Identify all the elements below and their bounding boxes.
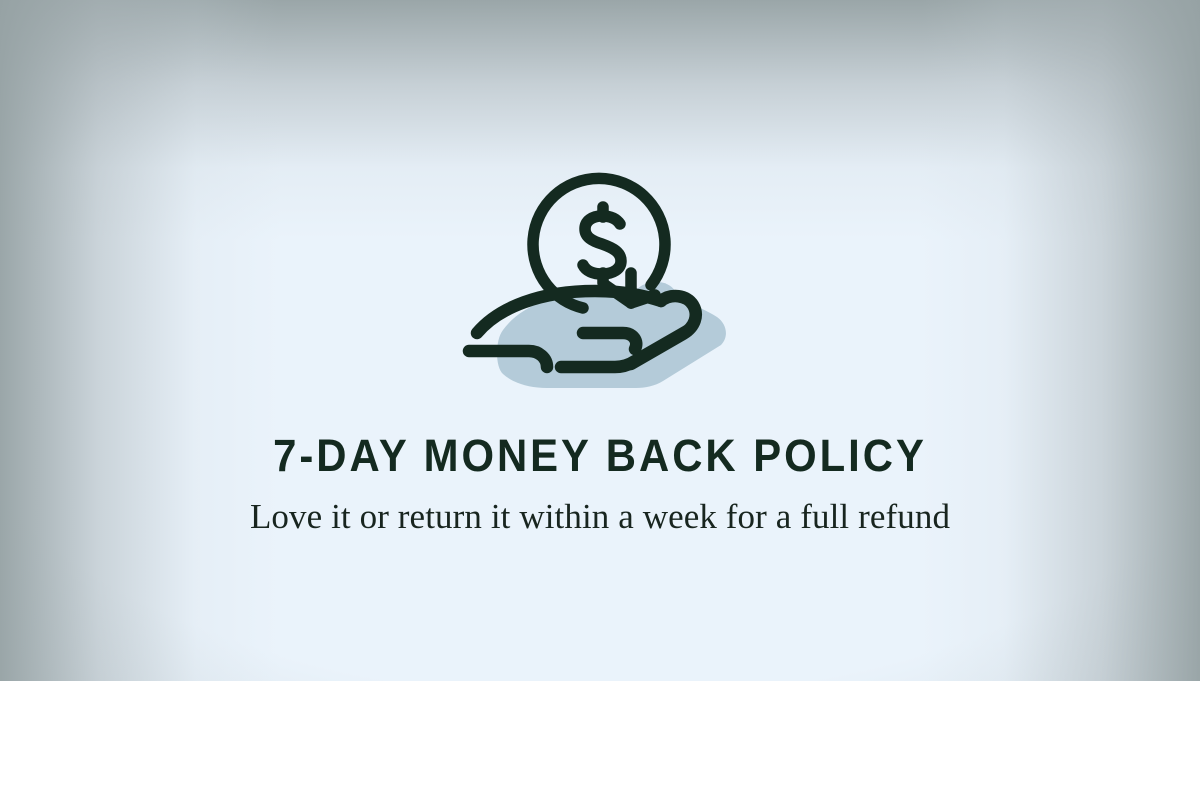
dollar-sign-icon	[583, 207, 621, 283]
promo-card: 7-DAY MONEY BACK POLICY Love it or retur…	[0, 0, 1200, 800]
hero-section: 7-DAY MONEY BACK POLICY Love it or retur…	[0, 0, 1200, 681]
page-title: 7-DAY MONEY BACK POLICY	[42, 433, 1158, 478]
money-back-hand-icon	[455, 155, 745, 390]
page-subtitle: Love it or return it within a week for a…	[236, 494, 964, 539]
footer-bar: Rydell (701) 772-7211 rydellchev.com	[0, 681, 1200, 800]
